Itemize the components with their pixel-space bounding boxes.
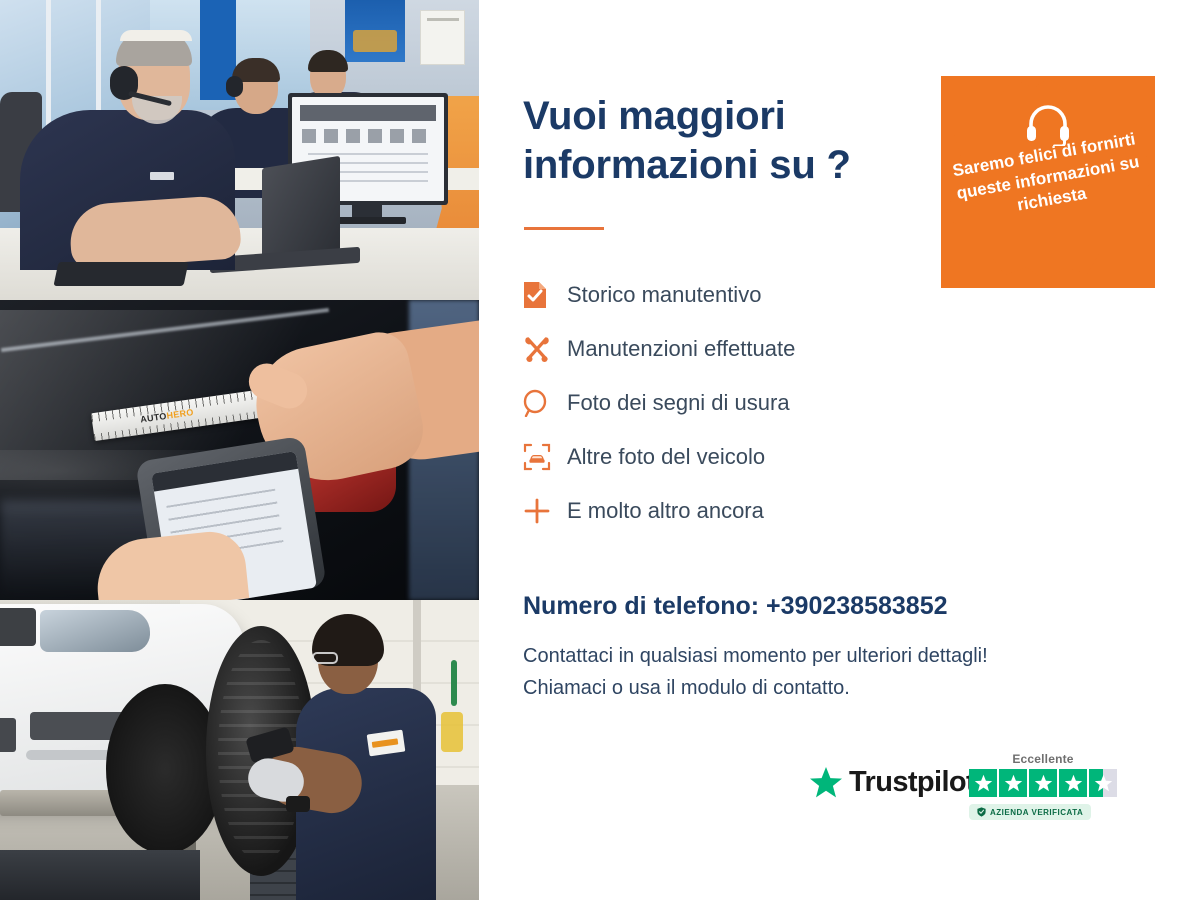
verified-business-badge: AZIENDA VERIFICATA (969, 804, 1091, 820)
call-center-agents-photo (0, 0, 479, 300)
document-check-icon (523, 281, 567, 309)
car-headlight (40, 610, 150, 652)
laptop-screen (262, 156, 340, 263)
feature-item-service-history: Storico manutentivo (523, 268, 953, 322)
page-title-line1: Vuoi maggiori (523, 92, 953, 141)
feature-label: Foto dei segni di usura (567, 390, 790, 416)
car-grille (0, 608, 36, 646)
star-half-5 (1089, 769, 1117, 797)
car-scan-icon (523, 443, 567, 471)
feature-item-more: E molto altro ancora (523, 484, 953, 538)
workshop-container (441, 712, 463, 752)
page-title-line2: informazioni su ? (523, 141, 953, 190)
star-rating (969, 769, 1129, 797)
feature-label: Altre foto del veicolo (567, 444, 765, 470)
feature-item-wear-photos: Foto dei segni di usura (523, 376, 953, 430)
autohero-ruler-inspection-photo: AUTOHERO (0, 300, 479, 600)
agent-1-arm (68, 194, 242, 270)
page-title: Vuoi maggiori informazioni su ? (523, 92, 953, 190)
monitor-base (330, 217, 406, 224)
mechanic-watch (286, 796, 310, 812)
verified-label: AZIENDA VERIFICATA (990, 808, 1083, 817)
workshop-hose (451, 660, 457, 706)
promo-banner: AUTOHERO (0, 0, 1200, 900)
trustpilot-brand-text: Trustpilot (849, 766, 975, 799)
contact-line-1: Contattaci in qualsiasi momento per ulte… (523, 645, 988, 668)
feature-label: Manutenzioni effettuate (567, 336, 795, 362)
agent-3-hair (308, 50, 348, 72)
feature-list: Storico manutentivo Manutenzi (523, 268, 953, 538)
crossed-tools-icon (523, 335, 567, 363)
car-bumper-vent-2 (0, 718, 16, 752)
feature-item-vehicle-photos: Altre foto del veicolo (523, 430, 953, 484)
agent-1-headset-band (120, 30, 192, 41)
mechanic-glasses (312, 652, 338, 664)
star-filled-2 (999, 769, 1027, 797)
star-filled-4 (1059, 769, 1087, 797)
phone-number-label: Numero di telefono: +390238583852 (523, 592, 948, 621)
contact-line-2: Chiamaci o usa il modulo di contatto. (523, 677, 850, 700)
wall-poster (345, 0, 405, 62)
availability-badge: Saremo felici di fornirti queste informa… (941, 76, 1155, 288)
plus-icon (523, 497, 567, 525)
agent-1-logo (150, 172, 174, 180)
photo-column: AUTOHERO (0, 0, 479, 900)
star-filled-3 (1029, 769, 1057, 797)
title-underline-rule (524, 227, 604, 230)
feature-label: Storico manutentivo (567, 282, 761, 308)
tool-cabinet-left (0, 850, 200, 900)
mechanic-wheel-photo (0, 600, 479, 900)
feature-item-maintenance-done: Manutenzioni effettuate (523, 322, 953, 376)
shield-check-icon (977, 807, 986, 817)
desk-tablet (53, 262, 188, 286)
trustpilot-logo: Trustpilot (809, 766, 975, 799)
trustpilot-star-icon (809, 766, 843, 799)
star-filled-1 (969, 769, 997, 797)
agent-2-headset (226, 76, 243, 97)
wall-paper-sheet (420, 10, 465, 65)
trustpilot-widget[interactable]: Trustpilot Eccellente (809, 752, 1149, 842)
rating-label: Eccellente (969, 752, 1117, 766)
magnifier-icon (523, 389, 567, 417)
feature-label: E molto altro ancora (567, 498, 764, 524)
content-panel: Vuoi maggiori informazioni su ? Saremo f… (479, 0, 1200, 900)
trustpilot-rating-block: Eccellente (969, 752, 1129, 822)
